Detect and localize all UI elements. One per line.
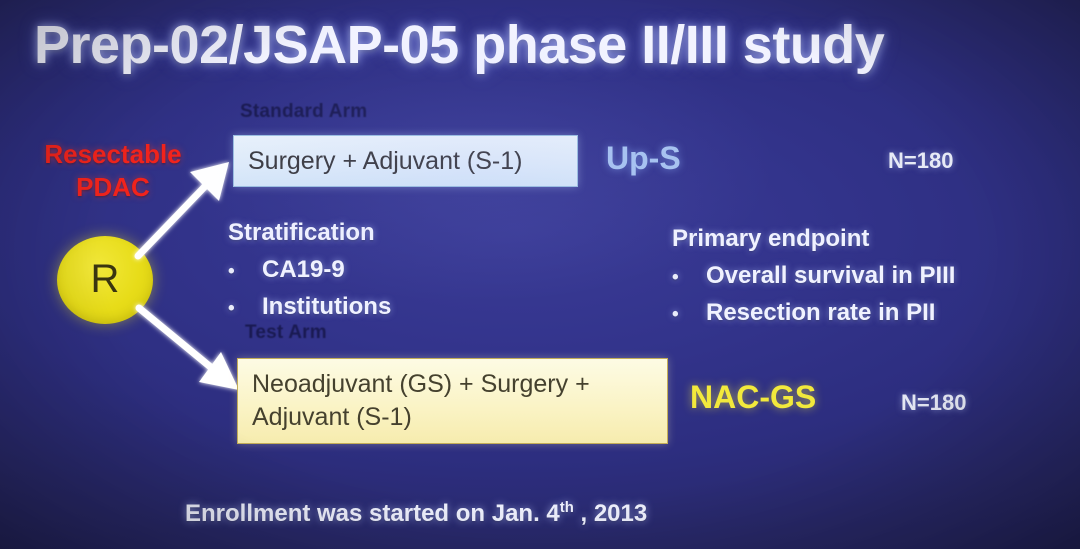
test-arm-regimen-box: Neoadjuvant (GS) + Surgery + Adjuvant (S… bbox=[237, 358, 668, 444]
stratification-item-2: • Institutions bbox=[228, 288, 558, 325]
slide-canvas: Prep-02/JSAP-05 phase II/III study Stand… bbox=[0, 0, 1080, 549]
standard-arm-regimen-box: Surgery + Adjuvant (S-1) bbox=[233, 135, 578, 187]
enrollment-ordinal-suffix: th bbox=[560, 500, 574, 516]
randomization-letter: R bbox=[91, 259, 120, 302]
stratification-heading: Stratification bbox=[228, 219, 558, 247]
test-arm-regimen-text: Neoadjuvant (GS) + Surgery + Adjuvant (S… bbox=[252, 368, 653, 434]
standard-arm-caption: Standard Arm bbox=[240, 101, 367, 123]
bullet-icon: • bbox=[228, 262, 262, 281]
test-arm-short-name: NAC-GS bbox=[690, 379, 816, 416]
stratification-block: Stratification • CA19-9 • Institutions bbox=[228, 219, 558, 325]
primary-endpoint-item-2-label: Resection rate in PII bbox=[706, 294, 935, 331]
test-arm-sample-size: N=180 bbox=[901, 390, 966, 416]
enrollment-note: Enrollment was started on Jan. 4th , 201… bbox=[185, 500, 647, 528]
stratification-item-2-label: Institutions bbox=[262, 288, 391, 325]
bullet-icon: • bbox=[672, 305, 706, 324]
primary-endpoint-item-2: • Resection rate in PII bbox=[672, 294, 1052, 331]
bullet-icon: • bbox=[672, 268, 706, 287]
enrollment-suffix: , 2013 bbox=[574, 500, 647, 527]
primary-endpoint-block: Primary endpoint • Overall survival in P… bbox=[672, 225, 1052, 331]
standard-arm-short-name: Up-S bbox=[606, 140, 681, 177]
primary-endpoint-item-1-label: Overall survival in PIII bbox=[706, 257, 955, 294]
primary-endpoint-heading: Primary endpoint bbox=[672, 225, 1052, 253]
standard-arm-sample-size: N=180 bbox=[888, 148, 953, 174]
page-title: Prep-02/JSAP-05 phase II/III study bbox=[34, 14, 994, 76]
stratification-item-1-label: CA19-9 bbox=[262, 251, 345, 288]
bullet-icon: • bbox=[228, 299, 262, 318]
primary-endpoint-item-1: • Overall survival in PIII bbox=[672, 257, 1052, 294]
standard-arm-regimen-text: Surgery + Adjuvant (S-1) bbox=[248, 145, 522, 178]
stratification-item-1: • CA19-9 bbox=[228, 251, 558, 288]
enrollment-prefix: Enrollment was started on Jan. 4 bbox=[185, 500, 560, 527]
